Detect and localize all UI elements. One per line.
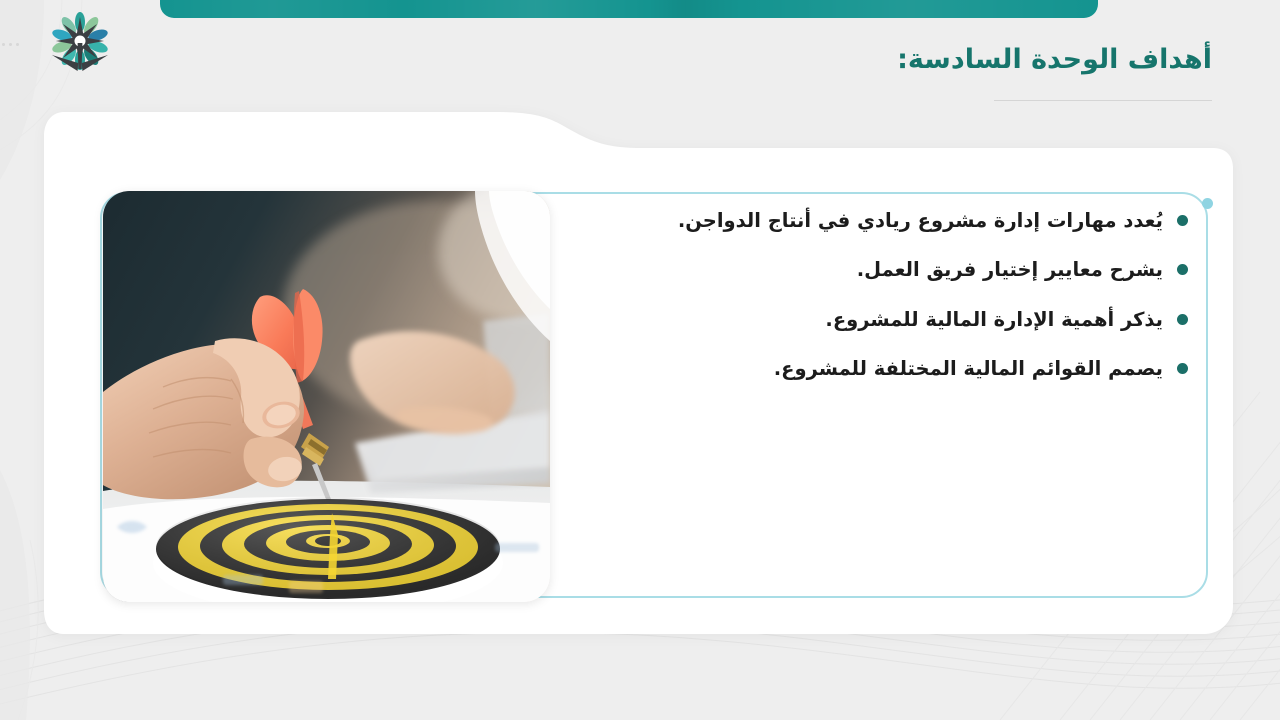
dart-target-photo (103, 191, 550, 602)
page-title: أهداف الوحدة السادسة: (897, 44, 1212, 75)
objective-text: يشرح معايير إختيار فريق العمل. (857, 255, 1163, 284)
list-item: يُعدد مهارات إدارة مشروع ريادي في أنتاج … (628, 206, 1188, 235)
objective-text: يصمم القوائم المالية المختلفة للمشروع. (774, 354, 1163, 383)
objectives-list: يُعدد مهارات إدارة مشروع ريادي في أنتاج … (628, 206, 1188, 403)
frame-accent-cap (1202, 198, 1213, 209)
slide-root: أهداف الوحدة السادسة: (0, 0, 1280, 720)
institution-star-logo-icon (44, 8, 116, 80)
objective-text: يُعدد مهارات إدارة مشروع ريادي في أنتاج … (678, 206, 1163, 235)
list-item: يصمم القوائم المالية المختلفة للمشروع. (628, 354, 1188, 383)
bullet-dot-icon (1177, 363, 1188, 374)
list-item: يشرح معايير إختيار فريق العمل. (628, 255, 1188, 284)
bullet-dot-icon (1177, 314, 1188, 325)
edge-dots-decoration (2, 43, 19, 46)
objective-text: يذكر أهمية الإدارة المالية للمشروع. (825, 305, 1163, 334)
top-accent-bar-sheen (160, 0, 1098, 18)
bullet-dot-icon (1177, 264, 1188, 275)
title-underline (994, 100, 1212, 101)
bullet-dot-icon (1177, 215, 1188, 226)
list-item: يذكر أهمية الإدارة المالية للمشروع. (628, 305, 1188, 334)
top-accent-bar (160, 0, 1098, 18)
